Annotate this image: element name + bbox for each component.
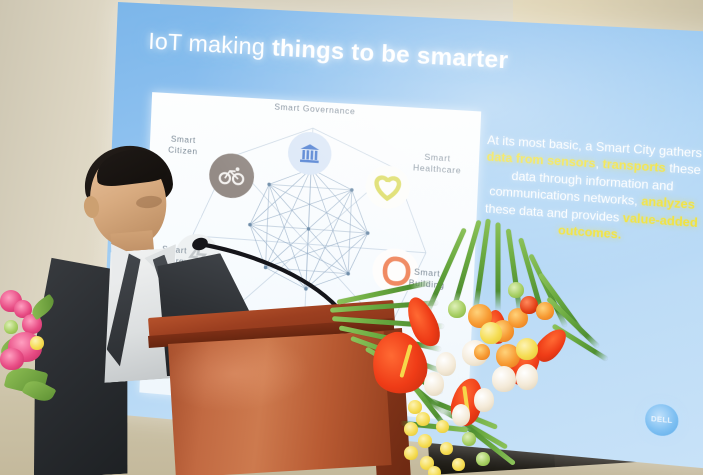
flower-spray: [462, 432, 476, 446]
pink-flower-accent: [4, 320, 18, 334]
flower-bloom: [474, 388, 494, 412]
flower-bloom: [424, 372, 444, 396]
floral-arrangement: [0, 0, 703, 475]
flower-spray: [418, 434, 432, 448]
flower-spray: [404, 446, 418, 460]
flower-bloom: [516, 338, 538, 360]
photo-scene: IoT making things to be smarter: [0, 0, 703, 475]
flower-spray: [416, 412, 430, 426]
flower-bloom: [492, 366, 516, 392]
flower-bloom: [516, 364, 538, 390]
palm-frond: [496, 223, 501, 311]
flower-spray: [476, 452, 490, 466]
flower-spray: [440, 442, 453, 455]
pink-flower-accent: [30, 336, 44, 350]
flower-spray: [436, 420, 449, 433]
flower-bloom: [448, 300, 466, 318]
flower-bloom: [536, 302, 554, 320]
flower-spray: [428, 466, 441, 475]
flower-spray: [404, 422, 418, 436]
flower-bloom: [508, 282, 524, 298]
pink-flower: [0, 348, 24, 370]
flower-bloom: [436, 352, 456, 376]
flower-spray: [452, 458, 465, 471]
flower-bloom: [480, 322, 502, 344]
flower-bloom: [474, 344, 490, 360]
flower-bloom: [452, 404, 470, 426]
